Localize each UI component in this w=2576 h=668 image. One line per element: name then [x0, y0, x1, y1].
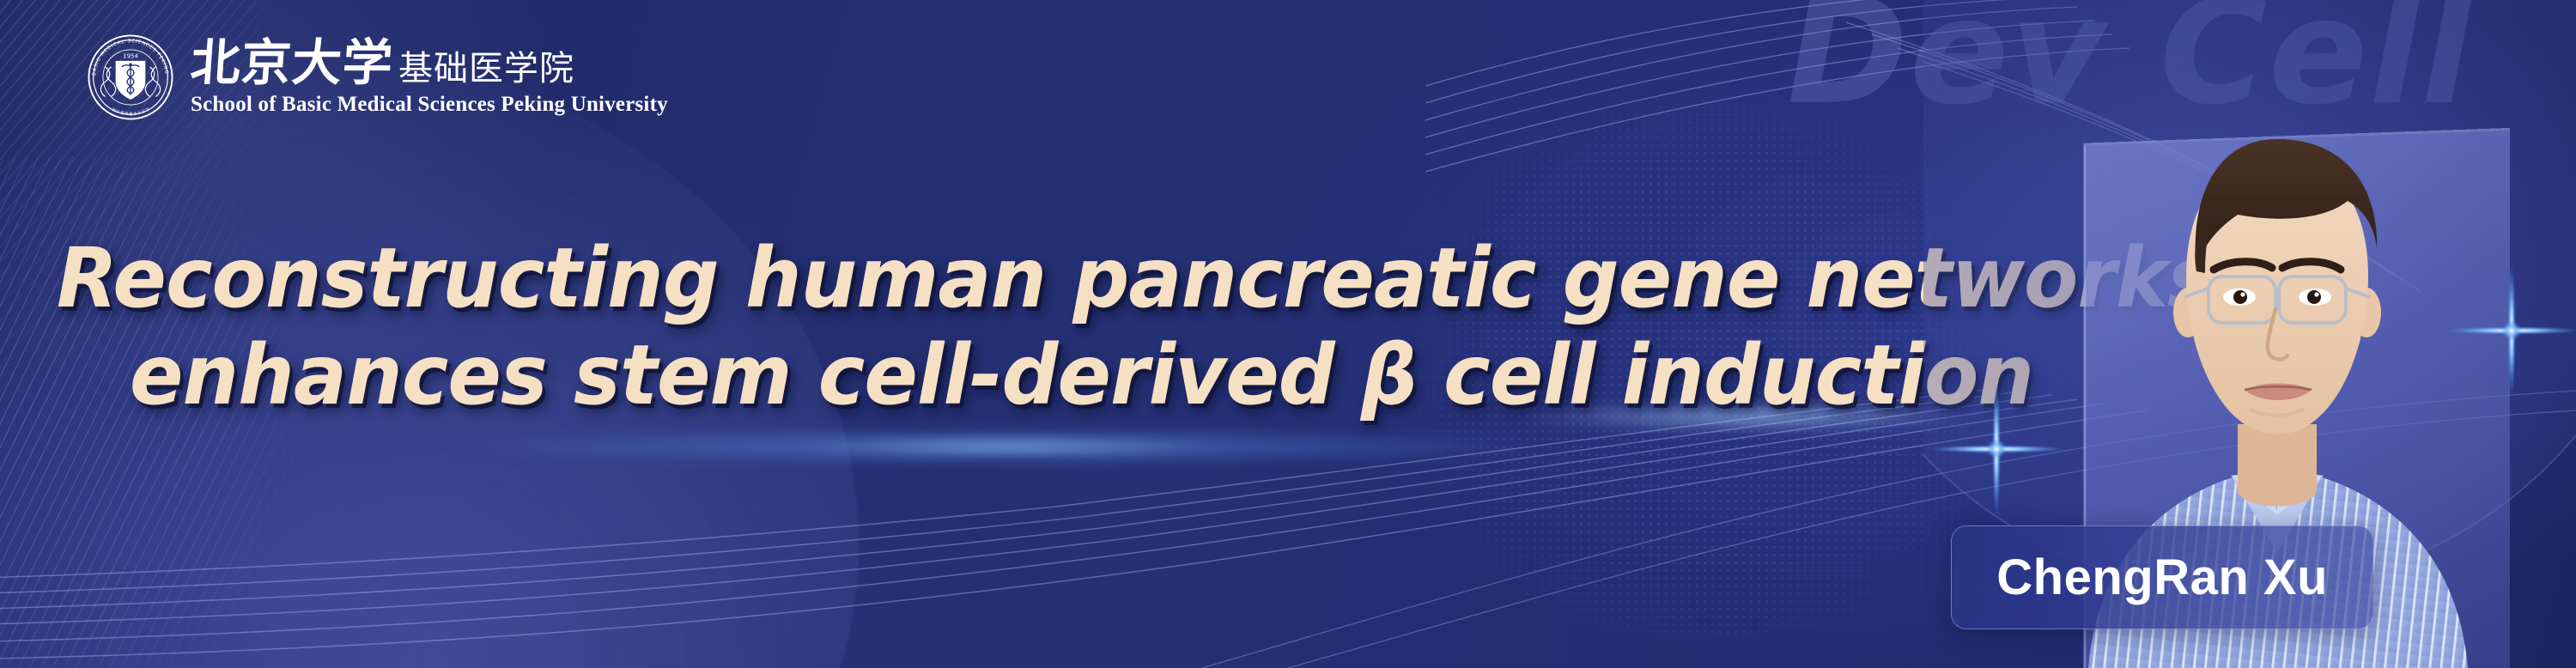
logo-chinese-main: 北京大学 — [189, 38, 395, 88]
speaker-name-badge[interactable]: ChengRan Xu — [1951, 525, 2373, 629]
university-crest-icon: SCHOOL OF BASIC MEDICAL SCIENCES PEKING … — [86, 33, 175, 122]
logo-english: School of Basic Medical Sciences Peking … — [191, 93, 668, 117]
conference-banner: Dev Cell SCHOOL OF BASIC MEDICAL SCIENCE… — [0, 0, 2576, 668]
title-light-streak — [447, 428, 1520, 465]
title-line-1: Reconstructing human pancreatic gene net… — [57, 230, 1978, 327]
talk-title: Reconstructing human pancreatic gene net… — [57, 230, 2057, 425]
title-line-2: enhances stem cell-derived β cell induct… — [130, 327, 1980, 424]
logo-chinese-sub: 基础医学院 — [398, 52, 574, 86]
logo-text-block: 北京大学 基础医学院 School of Basic Medical Scien… — [191, 38, 668, 117]
svg-text:1954: 1954 — [123, 52, 138, 59]
logo-chinese: 北京大学 基础医学院 — [191, 38, 668, 88]
institution-logo: SCHOOL OF BASIC MEDICAL SCIENCES PEKING … — [86, 33, 668, 122]
sparkle-icon-left — [1923, 376, 2069, 522]
